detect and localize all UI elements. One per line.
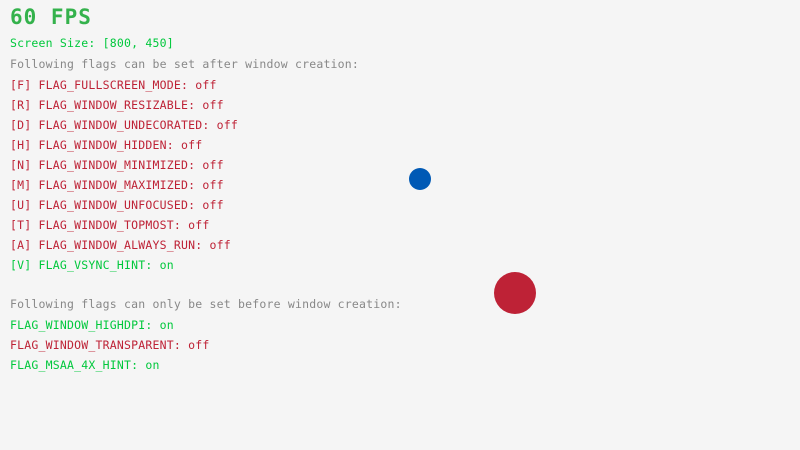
- flag-state-value: on: [160, 258, 174, 272]
- runtime-flag-item[interactable]: [N] FLAG_WINDOW_MINIMIZED: off: [10, 160, 224, 172]
- flag-shortcut-key: [R]: [10, 98, 39, 112]
- flag-name-label: FLAG_WINDOW_TRANSPARENT:: [10, 338, 188, 352]
- runtime-flag-item[interactable]: [D] FLAG_WINDOW_UNDECORATED: off: [10, 120, 238, 132]
- flag-shortcut-key: [D]: [10, 118, 39, 132]
- runtime-flag-item[interactable]: [F] FLAG_FULLSCREEN_MODE: off: [10, 80, 217, 92]
- flag-shortcut-key: [H]: [10, 138, 39, 152]
- flag-name-label: FLAG_WINDOW_HIDDEN:: [39, 138, 181, 152]
- flag-name-label: FLAG_VSYNC_HINT:: [39, 258, 160, 272]
- flag-name-label: FLAG_WINDOW_ALWAYS_RUN:: [39, 238, 210, 252]
- flag-shortcut-key: [U]: [10, 198, 39, 212]
- creation-flag-item[interactable]: FLAG_MSAA_4X_HINT: on: [10, 360, 160, 372]
- flag-shortcut-key: [V]: [10, 258, 39, 272]
- flag-name-label: FLAG_WINDOW_UNFOCUSED:: [39, 198, 203, 212]
- flag-state-value: off: [209, 238, 230, 252]
- flag-shortcut-key: [F]: [10, 78, 39, 92]
- flag-shortcut-key: [T]: [10, 218, 39, 232]
- flag-name-label: FLAG_WINDOW_RESIZABLE:: [39, 98, 203, 112]
- flag-state-value: off: [202, 158, 223, 172]
- flag-state-value: off: [188, 338, 209, 352]
- flag-state-value: off: [181, 138, 202, 152]
- blue-ball-shape: [409, 168, 431, 190]
- runtime-flag-item[interactable]: [U] FLAG_WINDOW_UNFOCUSED: off: [10, 200, 224, 212]
- runtime-flag-item[interactable]: [H] FLAG_WINDOW_HIDDEN: off: [10, 140, 202, 152]
- raylib-window-canvas[interactable]: 60 FPS Screen Size: [800, 450] Following…: [0, 0, 800, 450]
- screen-size-label: Screen Size: [800, 450]: [10, 38, 174, 50]
- flag-name-label: FLAG_WINDOW_TOPMOST:: [39, 218, 189, 232]
- flag-name-label: FLAG_WINDOW_HIGHDPI:: [10, 318, 160, 332]
- flag-name-label: FLAG_FULLSCREEN_MODE:: [39, 78, 196, 92]
- creation-flags-heading: Following flags can only be set before w…: [10, 299, 402, 311]
- creation-flag-item[interactable]: FLAG_WINDOW_HIGHDPI: on: [10, 320, 174, 332]
- runtime-flag-item[interactable]: [T] FLAG_WINDOW_TOPMOST: off: [10, 220, 209, 232]
- flag-state-value: on: [145, 358, 159, 372]
- runtime-flag-item[interactable]: [V] FLAG_VSYNC_HINT: on: [10, 260, 174, 272]
- flag-state-value: off: [202, 98, 223, 112]
- creation-flag-item[interactable]: FLAG_WINDOW_TRANSPARENT: off: [10, 340, 209, 352]
- flag-state-value: on: [160, 318, 174, 332]
- flag-shortcut-key: [A]: [10, 238, 39, 252]
- runtime-flag-item[interactable]: [R] FLAG_WINDOW_RESIZABLE: off: [10, 100, 224, 112]
- flag-state-value: off: [202, 178, 223, 192]
- runtime-flags-heading: Following flags can be set after window …: [10, 59, 359, 71]
- flag-state-value: off: [188, 218, 209, 232]
- flag-name-label: FLAG_WINDOW_UNDECORATED:: [39, 118, 217, 132]
- flag-name-label: FLAG_WINDOW_MINIMIZED:: [39, 158, 203, 172]
- runtime-flag-item[interactable]: [M] FLAG_WINDOW_MAXIMIZED: off: [10, 180, 224, 192]
- fps-counter: 60 FPS: [10, 7, 92, 28]
- flag-state-value: off: [195, 78, 216, 92]
- flag-name-label: FLAG_WINDOW_MAXIMIZED:: [39, 178, 203, 192]
- flag-state-value: off: [217, 118, 238, 132]
- flag-name-label: FLAG_MSAA_4X_HINT:: [10, 358, 145, 372]
- flag-shortcut-key: [N]: [10, 158, 39, 172]
- red-ball-shape: [494, 272, 536, 314]
- flag-shortcut-key: [M]: [10, 178, 39, 192]
- runtime-flag-item[interactable]: [A] FLAG_WINDOW_ALWAYS_RUN: off: [10, 240, 231, 252]
- flag-state-value: off: [202, 198, 223, 212]
